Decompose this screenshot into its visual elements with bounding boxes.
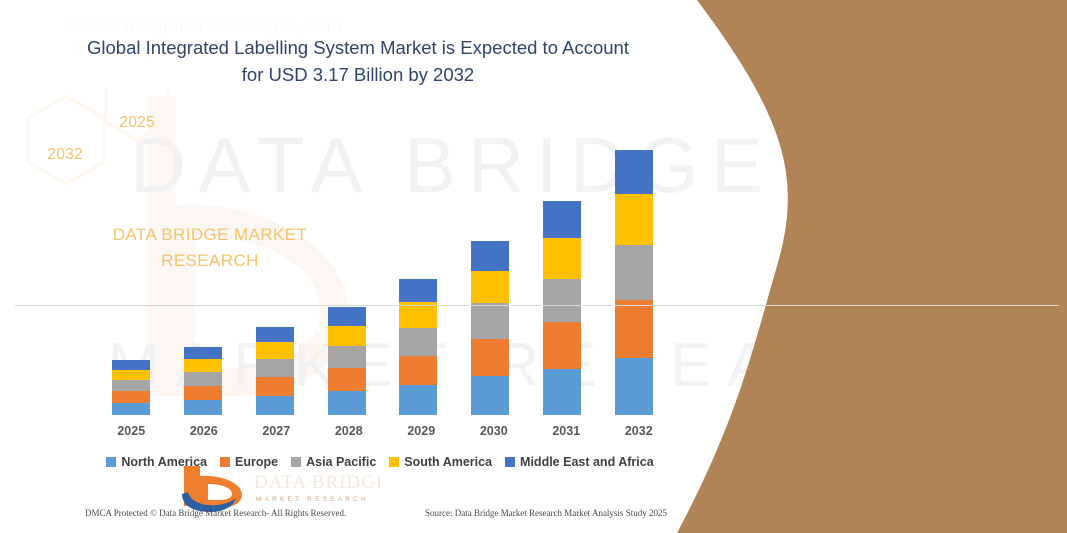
infographic-canvas: DATA BRIDGE MARKET RESEARCH Global Integ… [0,0,1067,533]
bar-segment [256,396,294,416]
bar-2026 [184,347,222,415]
logo-text: DATA BRIDGE [254,472,380,493]
legend-swatch-icon [106,457,116,467]
bar-segment [399,328,437,355]
bar-segment [615,300,653,359]
x-axis-label-2028: 2028 [319,424,379,438]
bar-segment [112,360,150,370]
bar-2025 [112,360,150,415]
x-axis-label-2025: 2025 [101,424,161,438]
bar-2031 [543,201,581,415]
bar-segment [328,391,366,415]
bar-segment [256,359,294,377]
bar-segment [328,326,366,346]
x-axis-label-2029: 2029 [391,424,451,438]
bar-segment [471,339,509,376]
x-axis-label-2031: 2031 [536,424,596,438]
x-axis-label-2032: 2032 [609,424,669,438]
bar-segment [615,245,653,300]
bar-segment [471,241,509,270]
legend-swatch-icon [389,457,399,467]
legend-item-middle-east-and-africa[interactable]: Middle East and Africa [505,455,654,469]
logo-subtext: MARKET RESEARCH [256,496,369,503]
x-axis-label-2026: 2026 [174,424,234,438]
bar-segment [184,400,222,415]
chart-legend: North AmericaEuropeAsia PacificSouth Ame… [60,455,700,469]
bar-segment [543,201,581,237]
legend-item-asia-pacific[interactable]: Asia Pacific [291,455,376,469]
legend-item-north-america[interactable]: North America [106,455,207,469]
bar-segment [615,150,653,194]
legend-label: Middle East and Africa [520,455,654,469]
bar-segment [399,279,437,302]
legend-swatch-icon [505,457,515,467]
footer: DMCA Protected © Data Bridge Market Rese… [0,505,700,525]
legend-item-south-america[interactable]: South America [389,455,492,469]
bar-2027 [256,327,294,415]
bar-segment [256,327,294,342]
legend-label: North America [121,455,207,469]
bar-segment [615,358,653,415]
legend-item-europe[interactable]: Europe [220,455,278,469]
chart-bars-container [95,110,670,415]
bar-2032 [615,150,653,415]
stacked-bar-chart [80,110,680,420]
bar-2030 [471,241,509,415]
bar-segment [328,307,366,326]
chart-x-axis [15,305,1059,306]
page-title: Global Integrated Labelling System Marke… [78,34,638,88]
bar-segment [543,279,581,322]
bar-segment [399,356,437,385]
chart-x-axis-labels: 20252026202720282029203020312032 [95,424,675,438]
bar-segment [112,403,150,415]
bar-segment [256,342,294,359]
right-side-panel [667,0,1067,533]
panel-shape [667,0,1067,533]
legend-label: South America [404,455,492,469]
bar-segment [184,347,222,359]
footer-source: Source: Data Bridge Market Research Mark… [425,508,667,518]
bar-2028 [328,307,366,415]
bar-segment [256,377,294,396]
legend-label: Asia Pacific [306,455,376,469]
bar-segment [615,194,653,245]
legend-swatch-icon [291,457,301,467]
bar-segment [399,385,437,415]
bar-segment [184,386,222,400]
bar-segment [112,370,150,381]
bar-2029 [399,279,437,415]
legend-swatch-icon [220,457,230,467]
bar-segment [328,368,366,391]
footer-copyright: DMCA Protected © Data Bridge Market Rese… [85,508,346,518]
bar-segment [471,376,509,415]
bar-segment [471,271,509,304]
bar-segment [543,369,581,415]
bar-segment [543,322,581,369]
bar-segment [184,372,222,385]
bar-segment [471,303,509,338]
bar-segment [328,346,366,368]
x-axis-label-2030: 2030 [464,424,524,438]
bar-segment [184,359,222,372]
bar-segment [112,380,150,391]
legend-label: Europe [235,455,278,469]
bar-segment [112,391,150,403]
bar-segment [399,302,437,328]
bar-segment [543,238,581,279]
x-axis-label-2027: 2027 [246,424,306,438]
